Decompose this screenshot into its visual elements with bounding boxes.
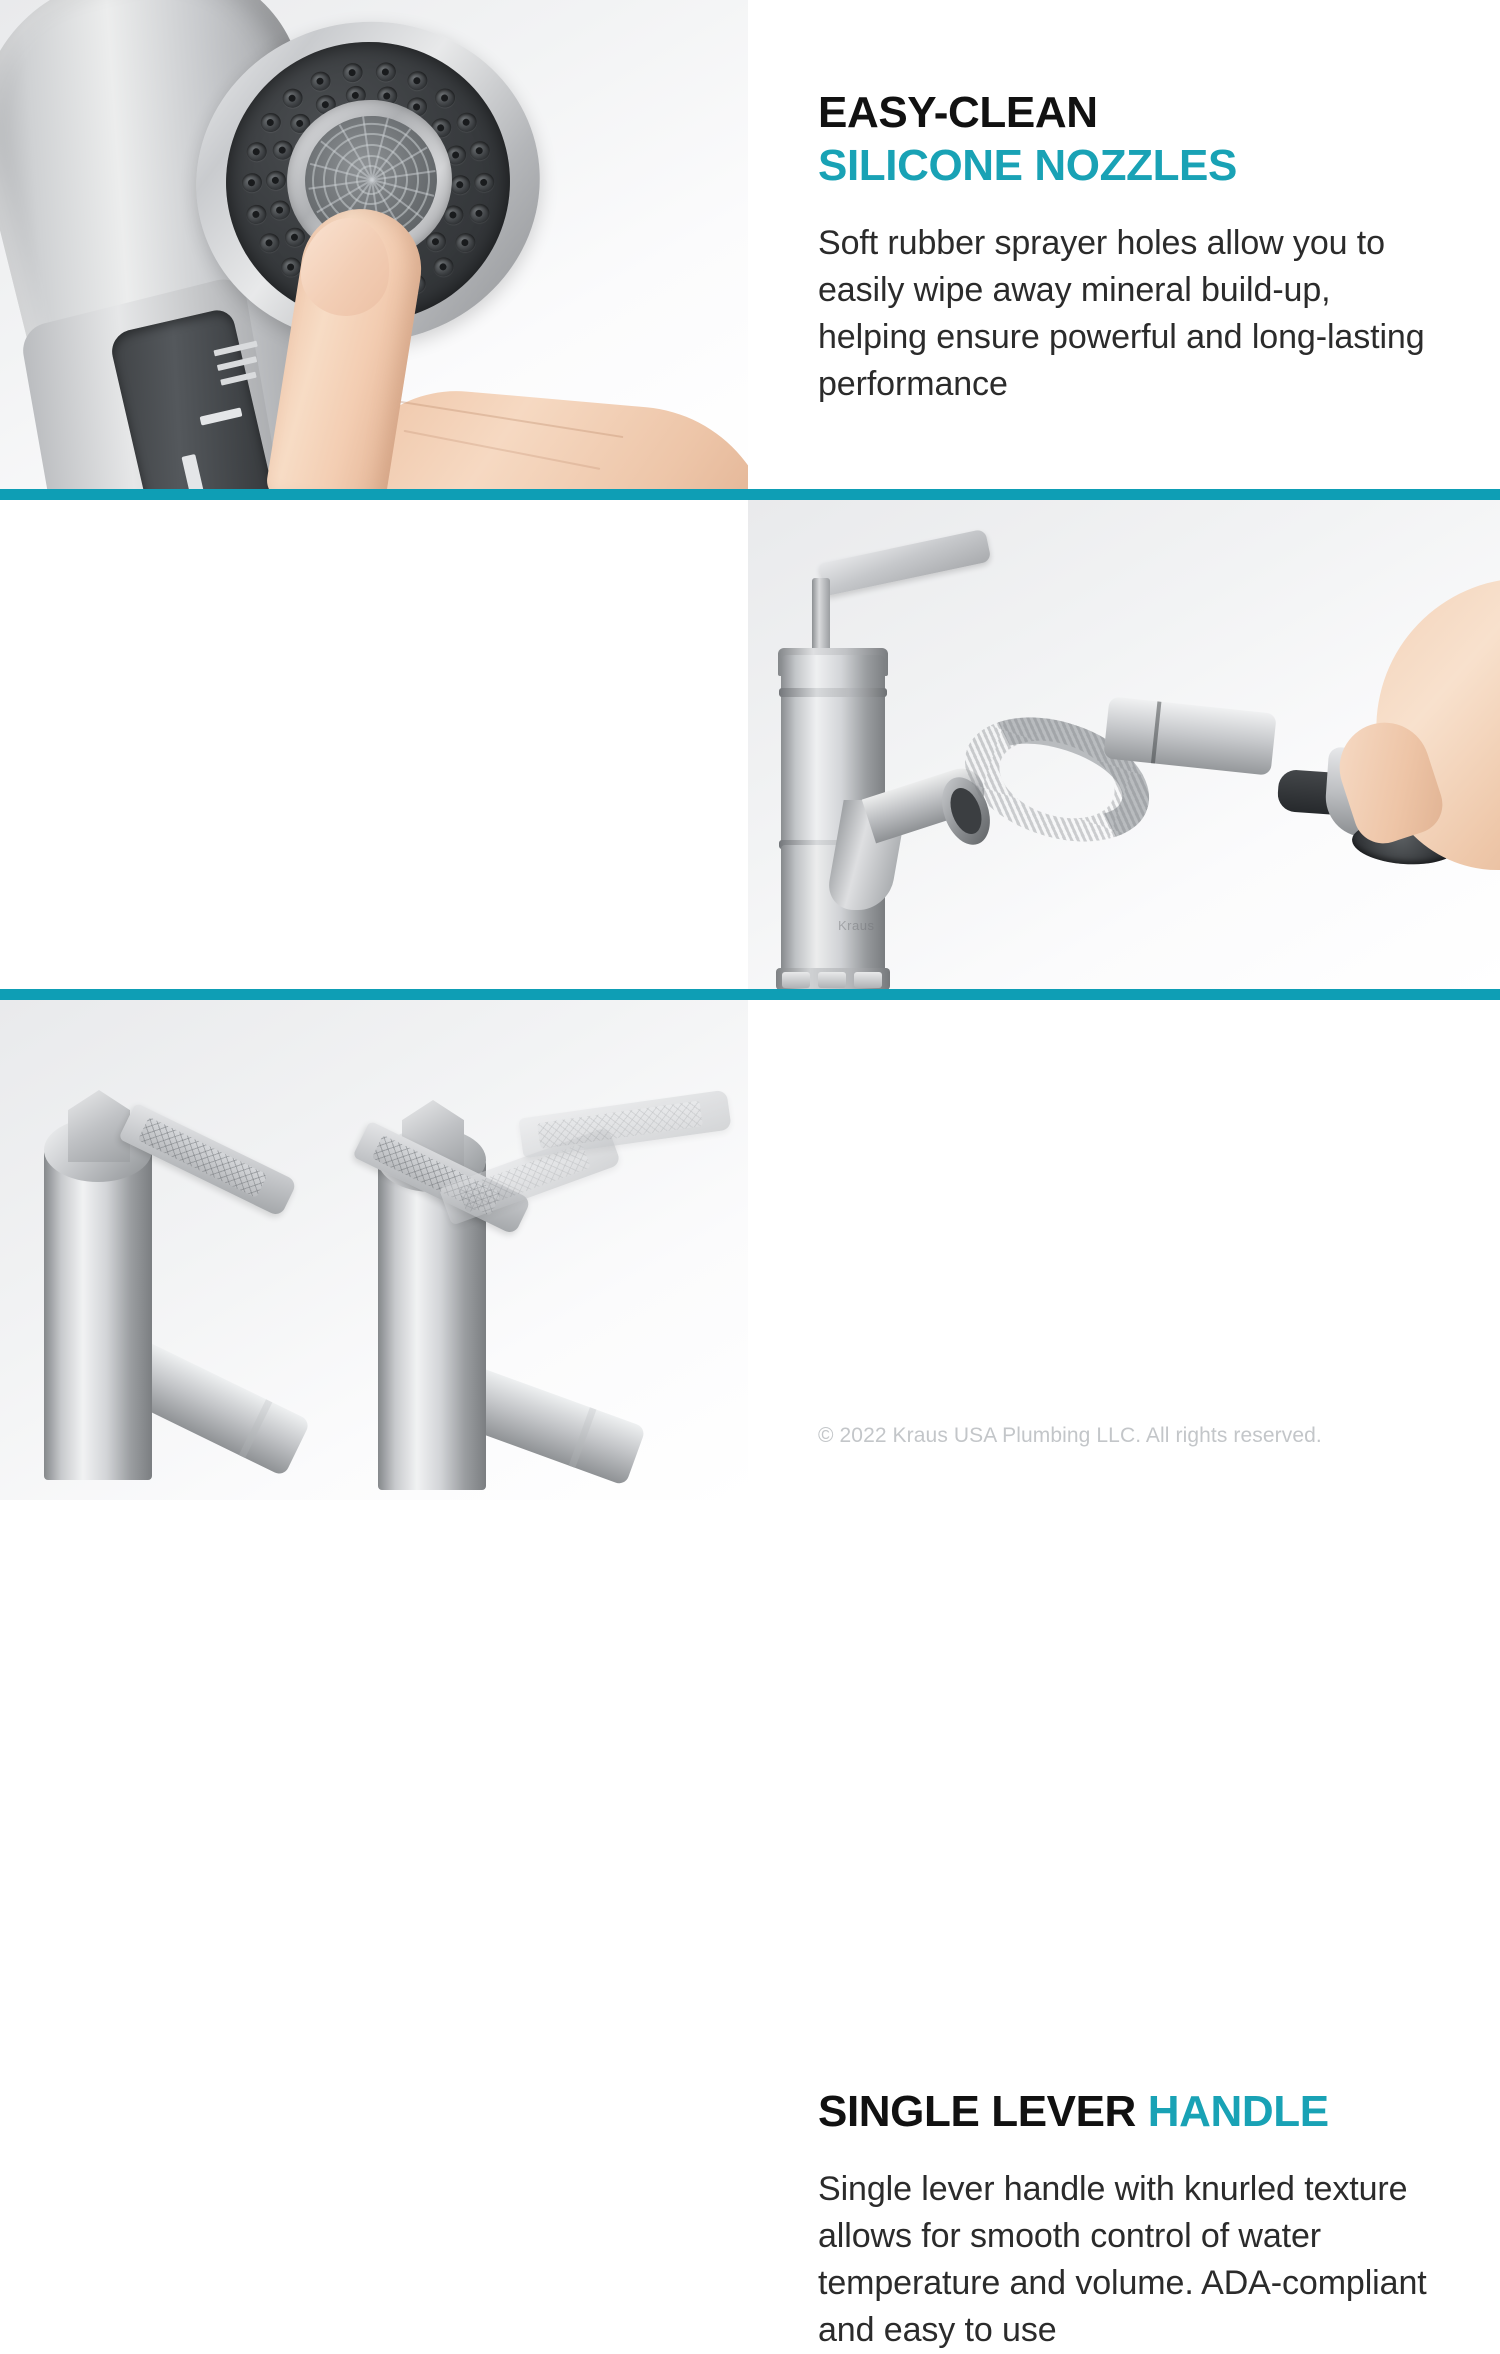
faucet-ring-1	[779, 688, 887, 697]
left-faucet-column	[44, 1150, 152, 1480]
heading-line-1: SINGLE LEVER	[818, 2087, 1136, 2136]
faucet-base	[776, 968, 890, 989]
silicone-nozzle	[432, 256, 454, 278]
silicone-nozzle	[260, 112, 282, 134]
silicone-nozzle	[284, 227, 306, 249]
left-faucet-wedge	[68, 1090, 130, 1162]
easy-clean-body: Soft rubber sprayer holes allow you to e…	[818, 220, 1448, 408]
silicone-nozzle	[468, 140, 490, 162]
single-lever-heading: SINGLE LEVER HANDLE	[818, 2085, 1458, 2138]
lever-handles-image	[0, 1000, 748, 1500]
infographic-page: EASY-CLEAN SILICONE NOZZLES Soft rubber …	[0, 0, 1500, 1500]
pull-out-faucet-image: Kraus	[748, 500, 1500, 989]
spacer	[818, 2148, 1458, 2166]
silicone-nozzle	[468, 203, 490, 225]
knurled-texture	[537, 1100, 703, 1149]
sprayhead-illustration	[0, 0, 748, 489]
knurled-texture	[138, 1117, 268, 1198]
silicone-nozzle	[473, 171, 495, 193]
heading-line-2: SILICONE NOZZLES	[818, 139, 1448, 192]
silicone-nozzle	[269, 199, 291, 221]
silicone-nozzle	[341, 61, 363, 83]
silicone-nozzle	[259, 232, 281, 254]
divider-top	[0, 489, 1500, 500]
single-lever-copy: SINGLE LEVER HANDLE Single lever handle …	[818, 2085, 1458, 2354]
divider-bottom	[0, 989, 1500, 1000]
pull-out-text-panel: PULL-OUT SPRAYHEAD Pull-out sprayer with…	[0, 500, 748, 989]
silicone-nozzle	[454, 232, 476, 254]
silicone-nozzle	[433, 87, 455, 109]
easy-clean-text-panel: EASY-CLEAN SILICONE NOZZLES Soft rubber …	[748, 0, 1500, 489]
silicone-nozzle	[282, 88, 304, 110]
silicone-nozzle	[245, 203, 267, 225]
faucet-lever-handle	[818, 529, 991, 597]
silicone-nozzle	[265, 169, 287, 191]
silicone-nozzle	[406, 70, 428, 92]
silicone-nozzle	[241, 172, 263, 194]
silicone-nozzle	[246, 141, 268, 163]
silicone-nozzle	[374, 61, 396, 83]
spacer	[818, 202, 1448, 220]
single-lever-body: Single lever handle with knurled texture…	[818, 2166, 1458, 2354]
easy-clean-copy: EASY-CLEAN SILICONE NOZZLES Soft rubber …	[818, 86, 1448, 408]
silicone-nozzle	[455, 111, 477, 133]
easy-clean-heading: EASY-CLEAN SILICONE NOZZLES	[818, 86, 1448, 192]
right-lever-handle-ghost-up	[518, 1090, 732, 1159]
faucet-lever-post	[812, 578, 830, 654]
silicone-nozzle	[310, 70, 332, 92]
sprayhead-nozzles-image	[0, 0, 748, 489]
heading-line-2: HANDLE	[1148, 2087, 1329, 2136]
kraus-brand-mark: Kraus	[838, 918, 874, 933]
copyright-footer: © 2022 Kraus USA Plumbing LLC. All right…	[818, 1424, 1322, 1448]
heading-line-1: EASY-CLEAN	[818, 86, 1448, 139]
